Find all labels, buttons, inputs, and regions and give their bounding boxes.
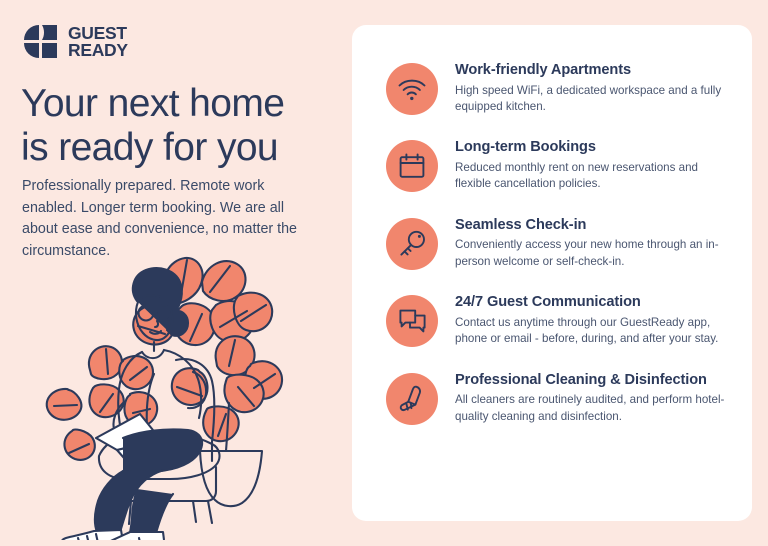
feature-item-work-friendly-apartments[interactable]: Work-friendly Apartments High speed WiFi… [386,61,730,115]
feature-description: High speed WiFi, a dedicated workspace a… [455,83,730,116]
feature-text: 24/7 Guest Communication Contact us anyt… [455,293,730,347]
wifi-icon [386,63,438,115]
key-icon [386,218,438,270]
calendar-icon [386,140,438,192]
logo-wordmark-line2: READY [68,42,128,59]
feature-title: Seamless Check-in [455,217,730,235]
feature-description: Conveniently access your new home throug… [455,237,730,270]
feature-text: Long-term Bookings Reduced monthly rent … [455,138,730,192]
broom-icon [386,373,438,425]
feature-item-seamless-check-in[interactable]: Seamless Check-in Conveniently access yo… [386,216,730,270]
feature-item-long-term-bookings[interactable]: Long-term Bookings Reduced monthly rent … [386,138,730,192]
features-card: Work-friendly Apartments High speed WiFi… [352,25,752,521]
hero-column: GUEST READY Your next home is ready for … [0,0,352,546]
feature-text: Seamless Check-in Conveniently access yo… [455,216,730,270]
features-list: Work-friendly Apartments High speed WiFi… [352,25,752,425]
guestready-logo-mark [22,23,59,60]
page-title: Your next home is ready for you [21,82,351,169]
chat-bubbles-icon [386,295,438,347]
feature-text: Work-friendly Apartments High speed WiFi… [455,61,730,115]
feature-description: All cleaners are routinely audited, and … [455,392,730,425]
feature-item-guest-communication[interactable]: 24/7 Guest Communication Contact us anyt… [386,293,730,347]
feature-title: Long-term Bookings [455,139,730,157]
feature-description: Contact us anytime through our GuestRead… [455,315,730,348]
feature-title: 24/7 Guest Communication [455,294,730,312]
feature-text: Professional Cleaning & Disinfection All… [455,371,730,425]
feature-item-professional-cleaning[interactable]: Professional Cleaning & Disinfection All… [386,371,730,425]
feature-title: Work-friendly Apartments [455,62,730,80]
feature-title: Professional Cleaning & Disinfection [455,372,730,390]
feature-description: Reduced monthly rent on new reservations… [455,160,730,193]
hero-illustration [30,248,340,540]
logo-wordmark-line1: GUEST [68,25,128,42]
brand-logo[interactable]: GUEST READY [22,23,128,60]
